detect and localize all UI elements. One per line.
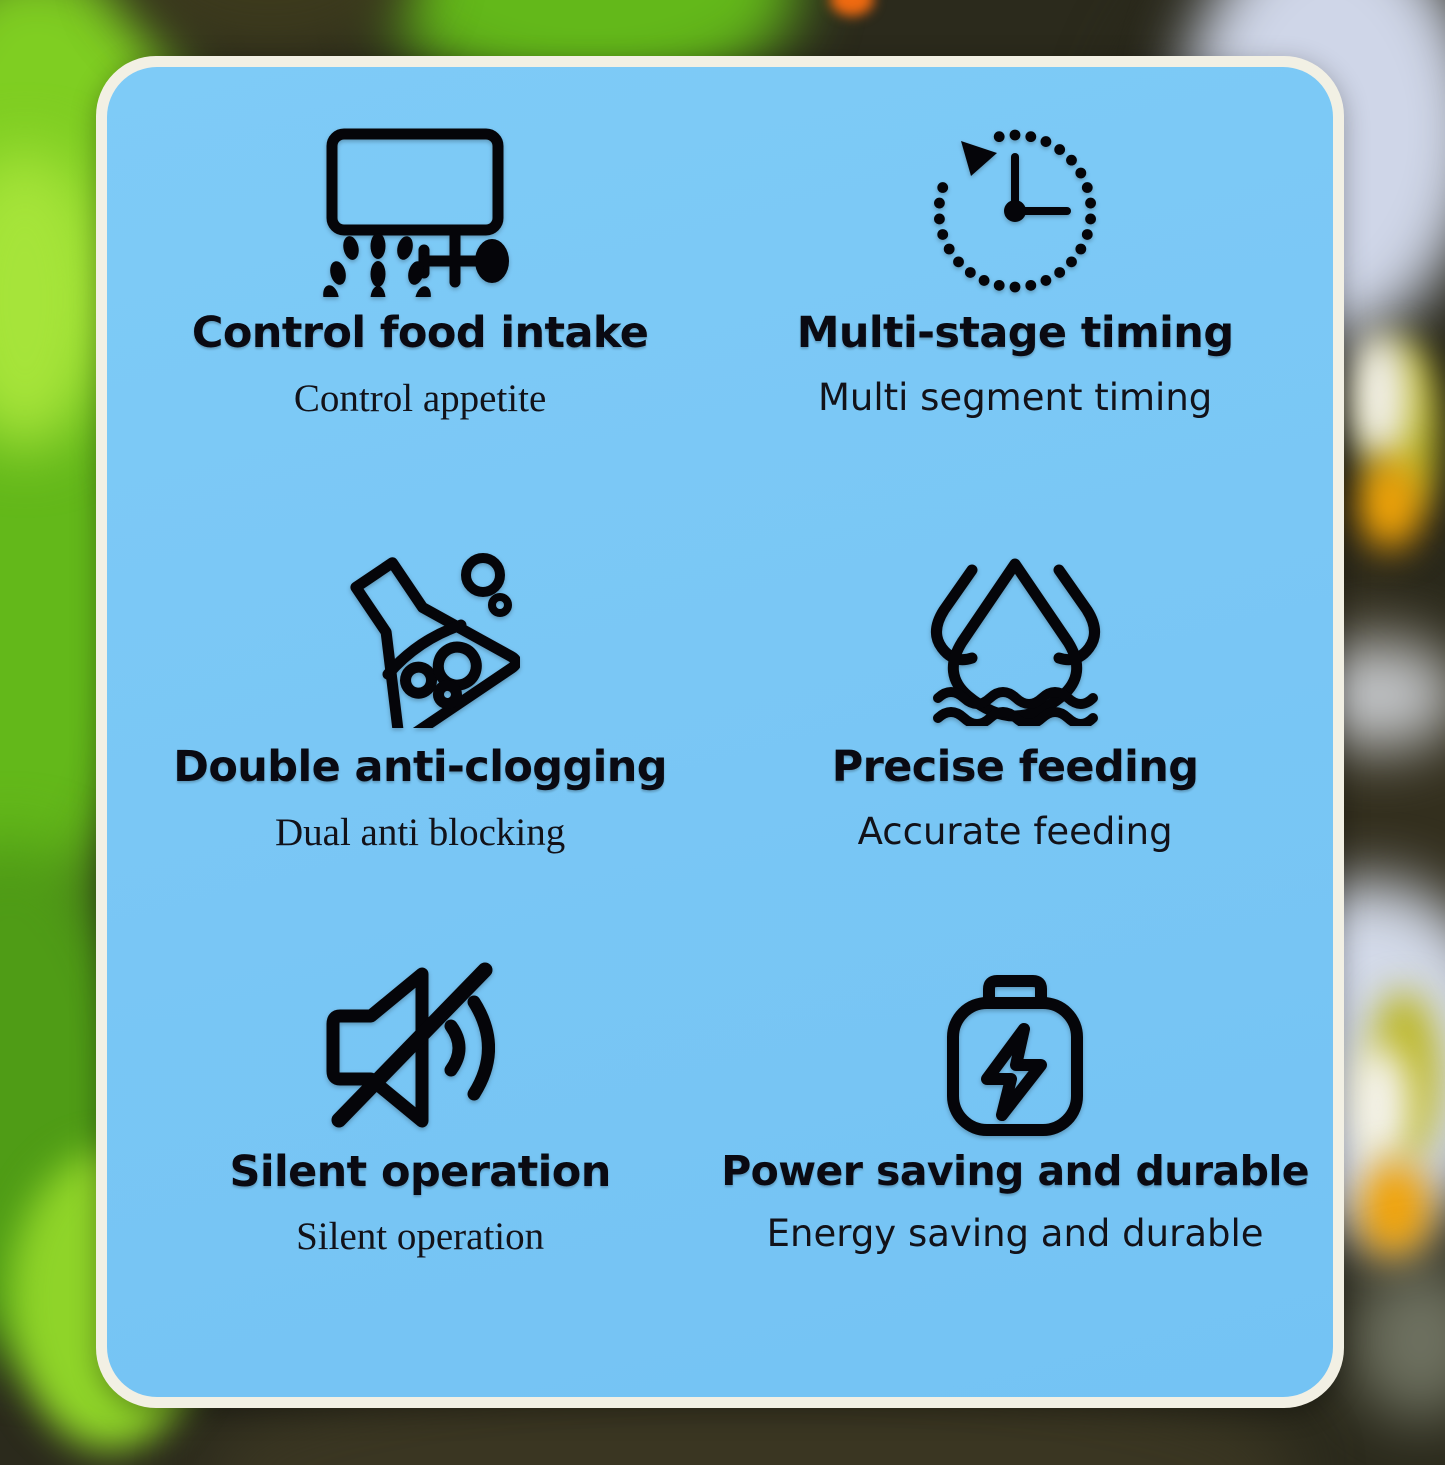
feature-subtitle: Control appetite xyxy=(294,378,546,421)
food-hopper-dispenser-icon xyxy=(320,109,520,309)
feature-subtitle: Accurate feeding xyxy=(858,812,1173,853)
feature-title: Power saving and durable xyxy=(721,1150,1309,1193)
feature-card: Control food intake Control appetite xyxy=(96,56,1344,1408)
bubbling-flask-icon xyxy=(320,528,520,743)
bg-fish-fin-2 xyxy=(1345,1045,1411,1165)
feature-title: Double anti-clogging xyxy=(173,745,667,790)
feature-item-power-saving-durable: Power saving and durable Energy saving a… xyxy=(715,948,1315,1255)
bg-orange-speck xyxy=(830,0,874,16)
feature-subtitle: Silent operation xyxy=(296,1216,544,1259)
water-droplets-waves-icon xyxy=(928,528,1103,743)
feature-subtitle: Multi segment timing xyxy=(818,378,1212,419)
bg-fish-fin-1 xyxy=(1348,330,1410,460)
feature-subtitle: Dual anti blocking xyxy=(275,812,565,855)
feature-item-silent-operation: Silent operation Silent operation xyxy=(125,948,715,1260)
feature-item-double-anti-clogging: Double anti-clogging Dual anti blocking xyxy=(125,528,715,855)
bg-streak-2 xyxy=(1350,1260,1445,1420)
feature-item-precise-feeding: Precise feeding Accurate feeding xyxy=(715,528,1315,852)
feature-grid: Control food intake Control appetite xyxy=(107,67,1333,1397)
feature-title: Silent operation xyxy=(229,1150,610,1195)
feature-item-multi-stage-timing: Multi-stage timing Multi segment timing xyxy=(715,109,1315,418)
rotating-clock-timer-icon xyxy=(925,109,1105,309)
bg-fish-tail-2 xyxy=(1360,1160,1430,1260)
feature-title: Precise feeding xyxy=(832,745,1199,790)
feature-title: Control food intake xyxy=(192,311,648,356)
bg-fish-tail-1 xyxy=(1358,460,1422,550)
feature-title: Multi-stage timing xyxy=(797,311,1234,356)
feature-item-control-food-intake: Control food intake Control appetite xyxy=(125,109,715,421)
battery-lightning-icon xyxy=(940,948,1090,1148)
muted-speaker-icon xyxy=(325,948,515,1148)
feature-subtitle: Energy saving and durable xyxy=(767,1214,1264,1255)
